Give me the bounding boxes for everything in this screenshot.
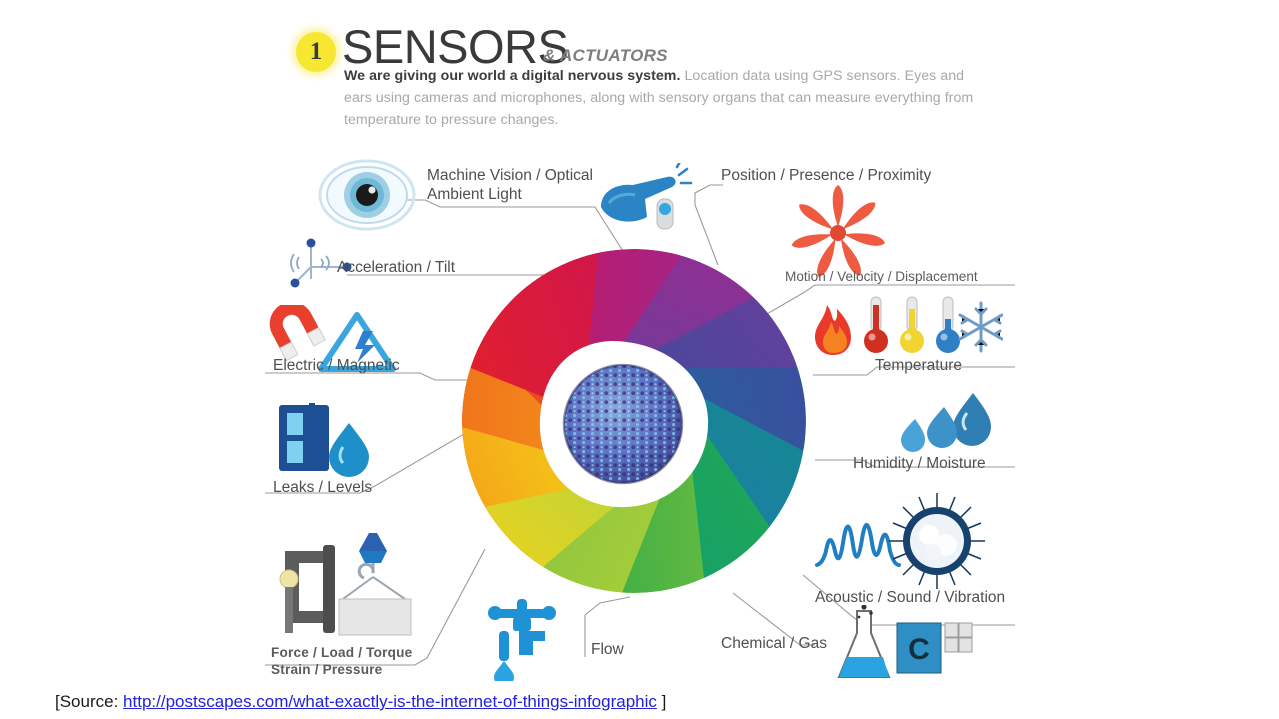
page-subtitle: & ACTUATORS (543, 46, 668, 66)
label-machine-vision: Machine Vision / Optical Ambient Light (427, 167, 593, 205)
label-machine-vision-line1: Machine Vision / Optical (427, 167, 593, 186)
label-humidity: Humidity / Moisture (853, 455, 986, 474)
header-description-lead: We are giving our world a digital nervou… (344, 68, 680, 84)
tank-and-droplet-icon (269, 397, 379, 485)
waveform-and-burst-icon (815, 493, 991, 593)
label-position-line1: Position / Presence / Proximity (721, 167, 931, 186)
label-chemical-gas: Chemical / Gas (721, 635, 827, 654)
label-motion: Motion / Velocity / Displacement (785, 269, 978, 286)
color-wheel (460, 247, 808, 595)
red-fan-blade-icon (783, 183, 893, 283)
label-electric-magnetic: Electric / Magnetic (273, 357, 400, 376)
label-machine-vision-line2: Ambient Light (427, 186, 593, 205)
flame-thermometers-snowflake-icon (813, 293, 1003, 359)
label-chemical-gas-line1: Chemical / Gas (721, 635, 827, 654)
source-suffix: ] (657, 692, 666, 711)
label-force-load-line2: Strain / Pressure (271, 662, 412, 679)
label-humidity-line1: Humidity / Moisture (853, 455, 986, 474)
label-acoustic: Acoustic / Sound / Vibration (815, 589, 1005, 608)
source-citation: [Source: http://postscapes.com/what-exac… (55, 692, 666, 712)
faucet-icon (483, 593, 573, 681)
label-force-load-line1: Force / Load / Torque (271, 645, 412, 662)
label-acoustic-line1: Acoustic / Sound / Vibration (815, 589, 1005, 608)
label-leaks-levels: Leaks / Levels (273, 479, 372, 498)
label-leaks-levels-line1: Leaks / Levels (273, 479, 372, 498)
header-description: We are giving our world a digital nervou… (344, 65, 976, 131)
label-position: Position / Presence / Proximity (721, 167, 931, 186)
source-prefix: [Source: (55, 692, 123, 711)
label-temperature-line1: Temperature (875, 357, 962, 376)
wheel-core (564, 365, 682, 483)
infographic-header: 1 SENSORS & ACTUATORS We are giving our … (296, 12, 996, 137)
flask-and-periodic-table-icon: C (823, 605, 973, 685)
aperture-wheel-svg (460, 247, 808, 595)
label-force-load: Force / Load / Torque Strain / Pressure (271, 645, 412, 678)
label-electric-magnetic-line1: Electric / Magnetic (273, 357, 400, 376)
source-link[interactable]: http://postscapes.com/what-exactly-is-th… (123, 692, 657, 711)
label-acceleration: Acceleration / Tilt (337, 259, 455, 278)
pointing-hand-icon (595, 163, 699, 243)
label-flow: Flow (591, 641, 624, 660)
sensor-wheel-diagram: Machine Vision / Optical Ambient Light A… (255, 145, 1025, 685)
eye-icon (317, 157, 417, 235)
label-temperature: Temperature (875, 357, 962, 376)
water-droplets-icon (887, 385, 993, 457)
step-number-badge: 1 (296, 32, 336, 72)
label-flow-line1: Flow (591, 641, 624, 660)
slide-canvas: 1 SENSORS & ACTUATORS We are giving our … (0, 0, 1279, 719)
label-acceleration-line1: Acceleration / Tilt (337, 259, 455, 278)
clamp-and-crane-load-icon (271, 527, 421, 651)
label-motion-line1: Motion / Velocity / Displacement (785, 269, 978, 286)
svg-text:C: C (908, 633, 930, 666)
